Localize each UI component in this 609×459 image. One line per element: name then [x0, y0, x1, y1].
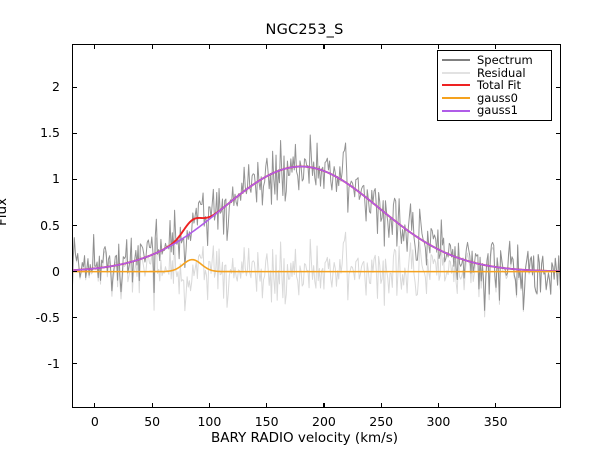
x-tick-mark	[438, 403, 439, 408]
y-tick-label: 0	[0, 264, 60, 279]
x-tick-mark-top	[495, 44, 496, 49]
y-tick-label: -0.5	[0, 310, 60, 325]
x-tick-label: 350	[466, 414, 526, 429]
x-tick-label: 250	[351, 414, 411, 429]
y-tick-mark-right	[556, 225, 561, 226]
x-tick-mark	[381, 403, 382, 408]
legend-color-swatch	[442, 72, 470, 74]
y-tick-label: -1	[0, 356, 60, 371]
legend-label: gauss1	[477, 104, 518, 117]
legend-item: Spectrum	[442, 54, 547, 67]
x-tick-label: 300	[408, 414, 468, 429]
x-tick-mark-top	[152, 44, 153, 49]
x-tick-mark	[266, 403, 267, 408]
y-tick-mark-right	[556, 133, 561, 134]
y-tick-mark	[72, 87, 77, 88]
x-tick-mark-top	[94, 44, 95, 49]
y-tick-mark-right	[556, 271, 561, 272]
y-tick-mark-right	[556, 179, 561, 180]
y-tick-mark-right	[556, 363, 561, 364]
y-tick-label: 1.5	[0, 125, 60, 140]
x-tick-mark	[152, 403, 153, 408]
x-tick-label: 200	[294, 414, 354, 429]
y-tick-label: 1	[0, 171, 60, 186]
y-tick-mark-right	[556, 317, 561, 318]
y-tick-mark	[72, 317, 77, 318]
y-tick-mark	[72, 271, 77, 272]
legend-color-swatch	[442, 110, 470, 112]
figure-canvas: NGC253_S Flux BARY RADIO velocity (km/s)…	[0, 0, 609, 459]
x-tick-mark-top	[438, 44, 439, 49]
y-tick-mark	[72, 225, 77, 226]
x-tick-mark-top	[381, 44, 382, 49]
legend-color-swatch	[442, 84, 470, 86]
x-tick-mark-top	[323, 44, 324, 49]
x-tick-mark	[94, 403, 95, 408]
x-tick-label: 0	[65, 414, 125, 429]
y-tick-mark	[72, 179, 77, 180]
x-tick-mark-top	[266, 44, 267, 49]
x-tick-mark	[209, 403, 210, 408]
legend-label: Spectrum	[477, 54, 533, 67]
legend-box: SpectrumResidualTotal Fitgauss0gauss1	[437, 50, 552, 121]
x-tick-label: 150	[237, 414, 297, 429]
legend-color-swatch	[442, 97, 470, 99]
legend-item: gauss1	[442, 104, 547, 117]
x-tick-label: 50	[122, 414, 182, 429]
chart-title: NGC253_S	[0, 22, 609, 38]
y-tick-mark-right	[556, 87, 561, 88]
legend-label: Total Fit	[477, 79, 521, 92]
legend-item: Total Fit	[442, 79, 547, 92]
x-axis-label: BARY RADIO velocity (km/s)	[0, 430, 609, 446]
y-tick-mark	[72, 133, 77, 134]
y-tick-mark	[72, 363, 77, 364]
x-tick-mark	[495, 403, 496, 408]
legend-color-swatch	[442, 59, 470, 61]
x-tick-label: 100	[179, 414, 239, 429]
y-tick-label: 2	[0, 79, 60, 94]
x-tick-mark	[323, 403, 324, 408]
x-tick-mark-top	[209, 44, 210, 49]
y-tick-label: 0.5	[0, 218, 60, 233]
